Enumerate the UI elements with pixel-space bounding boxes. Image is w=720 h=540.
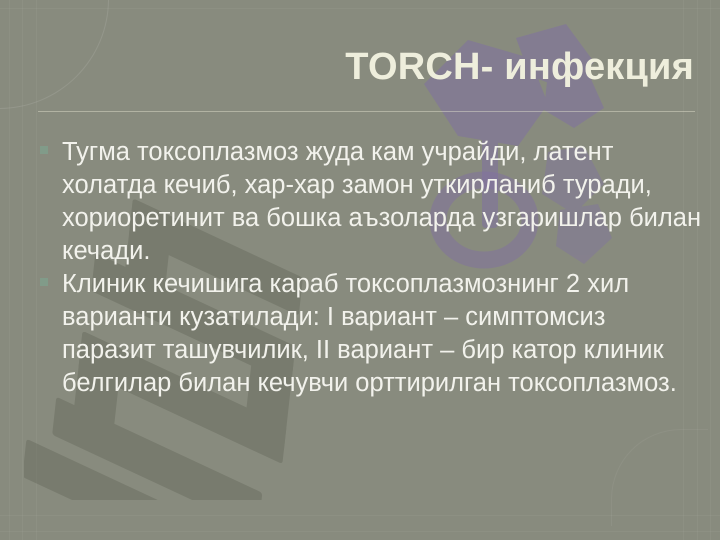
square-bullet-icon — [40, 278, 48, 286]
decorative-vertical-rule — [710, 0, 711, 540]
list-item-text: Клиник кечишига караб токсоплазмознинг 2… — [62, 270, 677, 397]
bullet-list: Тугма токсоплазмоз жуда кам учрайди, лат… — [36, 136, 704, 400]
decorative-vertical-rule — [22, 0, 23, 540]
decorative-horizontal-rule — [0, 515, 720, 516]
decorative-horizontal-rule — [0, 8, 720, 9]
corner-arc-decoration — [611, 429, 708, 526]
decorative-horizontal-rule — [0, 531, 720, 532]
presentation-slide: TORCH- инфекция Тугма токсоплазмоз жуда … — [0, 0, 720, 540]
square-bullet-icon — [40, 146, 48, 154]
page-title: TORCH- инфекция — [40, 48, 694, 88]
list-item-text: Тугма токсоплазмоз жуда кам учрайди, лат… — [62, 138, 701, 265]
decorative-vertical-rule — [9, 0, 10, 540]
list-item: Клиник кечишига караб токсоплазмознинг 2… — [36, 268, 704, 400]
title-divider — [38, 111, 695, 112]
list-item: Тугма токсоплазмоз жуда кам учрайди, лат… — [36, 136, 704, 268]
